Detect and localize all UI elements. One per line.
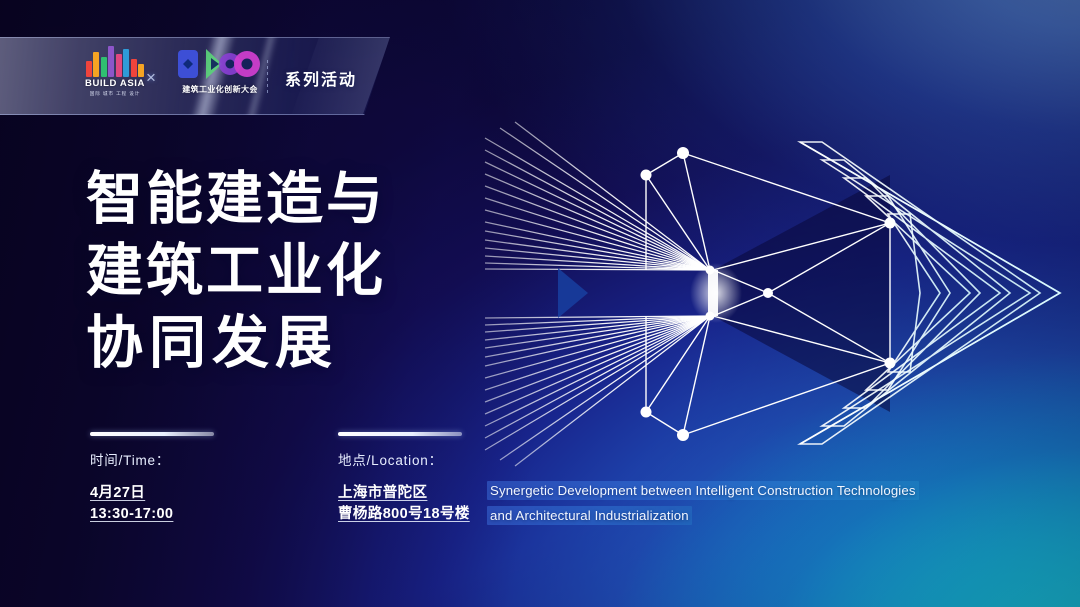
event-info: 时间/Time： 4月27日 13:30-17:00 地点/Location： …: [90, 432, 508, 525]
header-dotted-divider: [267, 60, 268, 94]
title-line-1: 智能建造与: [86, 163, 446, 235]
logo-separator-icon: ×: [146, 68, 156, 88]
build-asia-logo[interactable]: BUILD ASIA 国际 城市 工程 设计: [78, 45, 152, 97]
time-rule: [90, 432, 214, 436]
fan-lines-upper: [485, 122, 710, 270]
series-label: 系列活动: [285, 66, 357, 90]
event-time-block: 时间/Time： 4月27日 13:30-17:00: [90, 432, 260, 525]
time-value-date: 4月27日: [90, 483, 260, 504]
build-asia-logo-name: BUILD ASIA: [78, 79, 152, 89]
time-value-hours: 13:30-17:00: [90, 504, 260, 525]
english-subtitle-line-1: Synergetic Development between Intellige…: [487, 481, 919, 500]
location-value-city: 上海市普陀区: [338, 483, 508, 504]
location-rule: [338, 432, 462, 436]
promotional-banner: BUILD ASIA 国际 城市 工程 设计 × 建筑工业化创新大会 系列活动 …: [0, 0, 1080, 607]
build-asia-logo-icon: [78, 45, 152, 77]
conference-logo-icon: [168, 46, 272, 82]
network-arrow-graphic: [470, 120, 1070, 470]
title-line-3: 协同发展: [86, 307, 446, 379]
english-subtitle-line-2: and Architectural Industrialization: [487, 506, 692, 525]
english-subtitle: Synergetic Development between Intellige…: [487, 478, 1007, 528]
fan-lines-lower: [485, 316, 710, 466]
build-asia-logo-subtitle: 国际 城市 工程 设计: [78, 91, 152, 97]
location-label: 地点/Location：: [338, 449, 508, 469]
event-location-block: 地点/Location： 上海市普陀区 曹杨路800号18号楼: [338, 432, 508, 525]
conference-logo-name: 建筑工业化创新大会: [168, 84, 272, 95]
page-title: 智能建造与 建筑工业化 协同发展: [86, 163, 446, 379]
location-value-address: 曹杨路800号18号楼: [338, 504, 508, 525]
title-line-2: 建筑工业化: [86, 235, 446, 307]
conference-logo[interactable]: 建筑工业化创新大会: [168, 46, 272, 95]
play-notch: [558, 268, 588, 318]
time-label: 时间/Time：: [90, 449, 260, 469]
